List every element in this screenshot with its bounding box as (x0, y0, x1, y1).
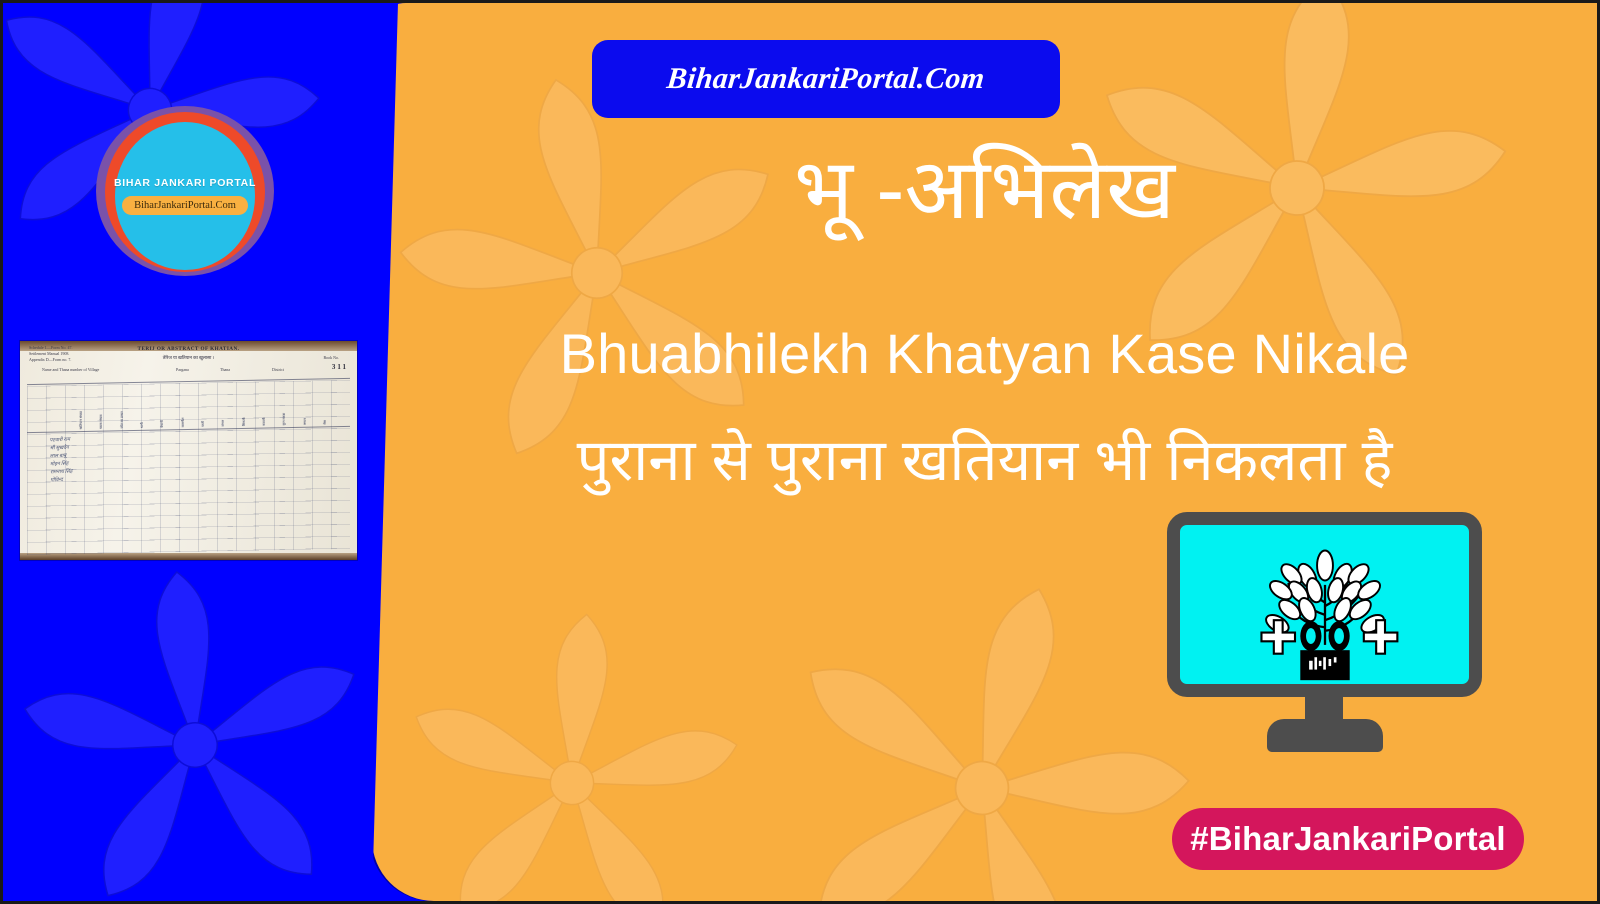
khatian-handwritten-block: पटवारी राम श्री सुखदेव लाल बाबू मोहन सिं… (50, 437, 73, 486)
khatian-label-pargana: Pargana (176, 367, 189, 373)
khatian-col: खतियान संख्या (78, 395, 83, 429)
hashtag-badge: #BiharJankariPortal (1172, 808, 1524, 870)
site-url-pill[interactable]: BiharJankariPortal.Com (592, 40, 1060, 118)
bodhi-tree-emblem-icon (1236, 539, 1414, 694)
khatian-col: बेधानी (159, 394, 164, 428)
site-logo: BIHAR JANKARI PORTAL BiharJankariPortal.… (96, 106, 274, 276)
khatian-title-en: TERIJ OR ABSTRACT OF KHATIAN. (20, 346, 357, 352)
khatian-col: जंगल (220, 393, 225, 427)
monitor-base (1267, 719, 1383, 752)
khatian-col: जोत का प्रकार (119, 395, 124, 429)
left-blue-panel: BIHAR JANKARI PORTAL BiharJankariPortal.… (0, 0, 410, 904)
khatian-document-photo: Schedule I.—Form No. 47. Settlement Manu… (20, 341, 357, 560)
thumbnail-canvas: BIHAR JANKARI PORTAL BiharJankariPortal.… (0, 0, 1600, 904)
khatian-label-book-no: Book No. (323, 355, 339, 361)
khatian-col: कुल रकबा (281, 391, 286, 425)
subtitle-hindi: पुराना से पुराना खतियान भी निकलता है (372, 418, 1597, 497)
khatian-col: खाता संख्या (98, 395, 103, 429)
logo-circle-cyan: BIHAR JANKARI PORTAL BiharJankariPortal.… (115, 122, 255, 270)
khatian-col: धानी (139, 394, 144, 428)
flower-icon-bottom-left (377, 588, 767, 901)
khatian-column-headers: खतियान संख्या खाता संख्या जोत का प्रकार … (78, 391, 327, 430)
khatian-label-village: Name and Thana number of Village (42, 367, 99, 373)
flower-icon-bottom-left (0, 542, 398, 904)
khatian-col: लगान (302, 391, 307, 425)
hashtag-label: #BiharJankariPortal (1190, 820, 1506, 858)
logo-title: BIHAR JANKARI PORTAL (114, 177, 256, 189)
logo-url-pill: BiharJankariPortal.Com (122, 196, 248, 215)
monitor-illustration (1167, 512, 1482, 752)
right-orange-panel: BiharJankariPortal.Com भू -अभिलेख Bhuabh… (372, 3, 1597, 901)
khatian-label-thana: Thana (220, 367, 230, 373)
khatian-title-hi: तेरिज या खतियान का खुलासा । (20, 355, 357, 361)
site-url-text: BiharJankariPortal.Com (665, 62, 986, 96)
khatian-col: परती (200, 393, 205, 427)
monitor-screen (1167, 512, 1482, 697)
khatian-col: कायमी (261, 392, 266, 426)
khatian-label-district: District (272, 367, 284, 373)
page-title-hindi: भू -अभिलेख (372, 145, 1597, 233)
subtitle-english: Bhuabhilekh Khatyan Kase Nikale (372, 321, 1597, 386)
khatian-col: बासगीत (180, 393, 185, 427)
khatian-col: सेस (322, 391, 327, 425)
khatian-col: सिकमी (241, 392, 246, 426)
khatian-book-no-value: 311 (332, 363, 348, 371)
